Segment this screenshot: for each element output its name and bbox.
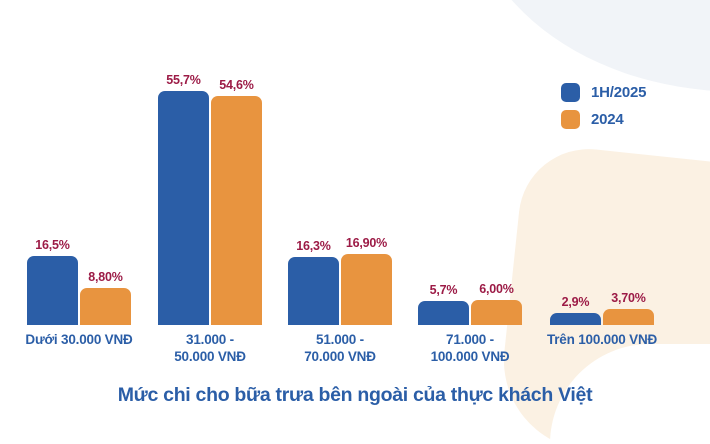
bar-value-label: 6,00% bbox=[479, 282, 513, 296]
category-label-4: 71.000 -100.000 VNĐ bbox=[431, 332, 510, 366]
bar-value-label: 16,3% bbox=[296, 239, 330, 253]
legend-label-2024: 2024 bbox=[591, 111, 624, 128]
bar-pair: 16,3%16,90%51.000 -70.000 VNĐ bbox=[288, 65, 392, 325]
bar-value-label: 5,7% bbox=[430, 283, 458, 297]
bar-2024-1[interactable]: 8,80% bbox=[80, 288, 131, 325]
bar-group-1: 16,5%8,80%Dưới 30.000 VNĐ bbox=[27, 65, 131, 325]
bar-pair: 16,5%8,80%Dưới 30.000 VNĐ bbox=[27, 65, 131, 325]
bar-1h-2025-5[interactable]: 2,9% bbox=[550, 313, 601, 325]
bar-group-4: 5,7%6,00%71.000 -100.000 VNĐ bbox=[418, 65, 522, 325]
category-label-5: Trên 100.000 VNĐ bbox=[547, 332, 657, 349]
bar-value-label: 55,7% bbox=[166, 73, 200, 87]
bar-1h-2025-3[interactable]: 16,3% bbox=[288, 257, 339, 325]
legend-swatch-icon-2024 bbox=[561, 110, 580, 129]
bar-1h-2025-1[interactable]: 16,5% bbox=[27, 256, 78, 325]
bar-1h-2025-2[interactable]: 55,7% bbox=[158, 91, 209, 325]
chart-canvas: 16,5%8,80%Dưới 30.000 VNĐ55,7%54,6%31.00… bbox=[0, 0, 710, 444]
chart-title: Mức chi cho bữa trưa bên ngoài của thực … bbox=[0, 384, 710, 407]
bar-value-label: 8,80% bbox=[88, 270, 122, 284]
legend-label-1h-2025: 1H/2025 bbox=[591, 84, 646, 101]
category-label-1: Dưới 30.000 VNĐ bbox=[25, 332, 132, 349]
bar-value-label: 3,70% bbox=[611, 291, 645, 305]
bar-value-label: 54,6% bbox=[219, 78, 253, 92]
category-label-2: 31.000 -50.000 VNĐ bbox=[174, 332, 246, 366]
bar-value-label: 16,5% bbox=[35, 238, 69, 252]
bar-2024-2[interactable]: 54,6% bbox=[211, 96, 262, 325]
bar-2024-3[interactable]: 16,90% bbox=[341, 254, 392, 325]
legend-swatch-icon-1h-2025 bbox=[561, 83, 580, 102]
legend-item-2024[interactable]: 2024 bbox=[561, 110, 646, 129]
bar-group-2: 55,7%54,6%31.000 -50.000 VNĐ bbox=[158, 65, 262, 325]
bar-value-label: 16,90% bbox=[346, 236, 387, 250]
chart-legend: 1H/2025 2024 bbox=[561, 83, 646, 129]
category-label-3: 51.000 -70.000 VNĐ bbox=[304, 332, 376, 366]
bar-pair: 5,7%6,00%71.000 -100.000 VNĐ bbox=[418, 65, 522, 325]
bar-2024-4[interactable]: 6,00% bbox=[471, 300, 522, 325]
bar-value-label: 2,9% bbox=[562, 295, 590, 309]
bar-1h-2025-4[interactable]: 5,7% bbox=[418, 301, 469, 325]
legend-item-1h-2025[interactable]: 1H/2025 bbox=[561, 83, 646, 102]
bar-pair: 55,7%54,6%31.000 -50.000 VNĐ bbox=[158, 65, 262, 325]
bar-chart-plot-area: 16,5%8,80%Dưới 30.000 VNĐ55,7%54,6%31.00… bbox=[0, 0, 710, 444]
bar-2024-5[interactable]: 3,70% bbox=[603, 309, 654, 325]
bar-group-3: 16,3%16,90%51.000 -70.000 VNĐ bbox=[288, 65, 392, 325]
